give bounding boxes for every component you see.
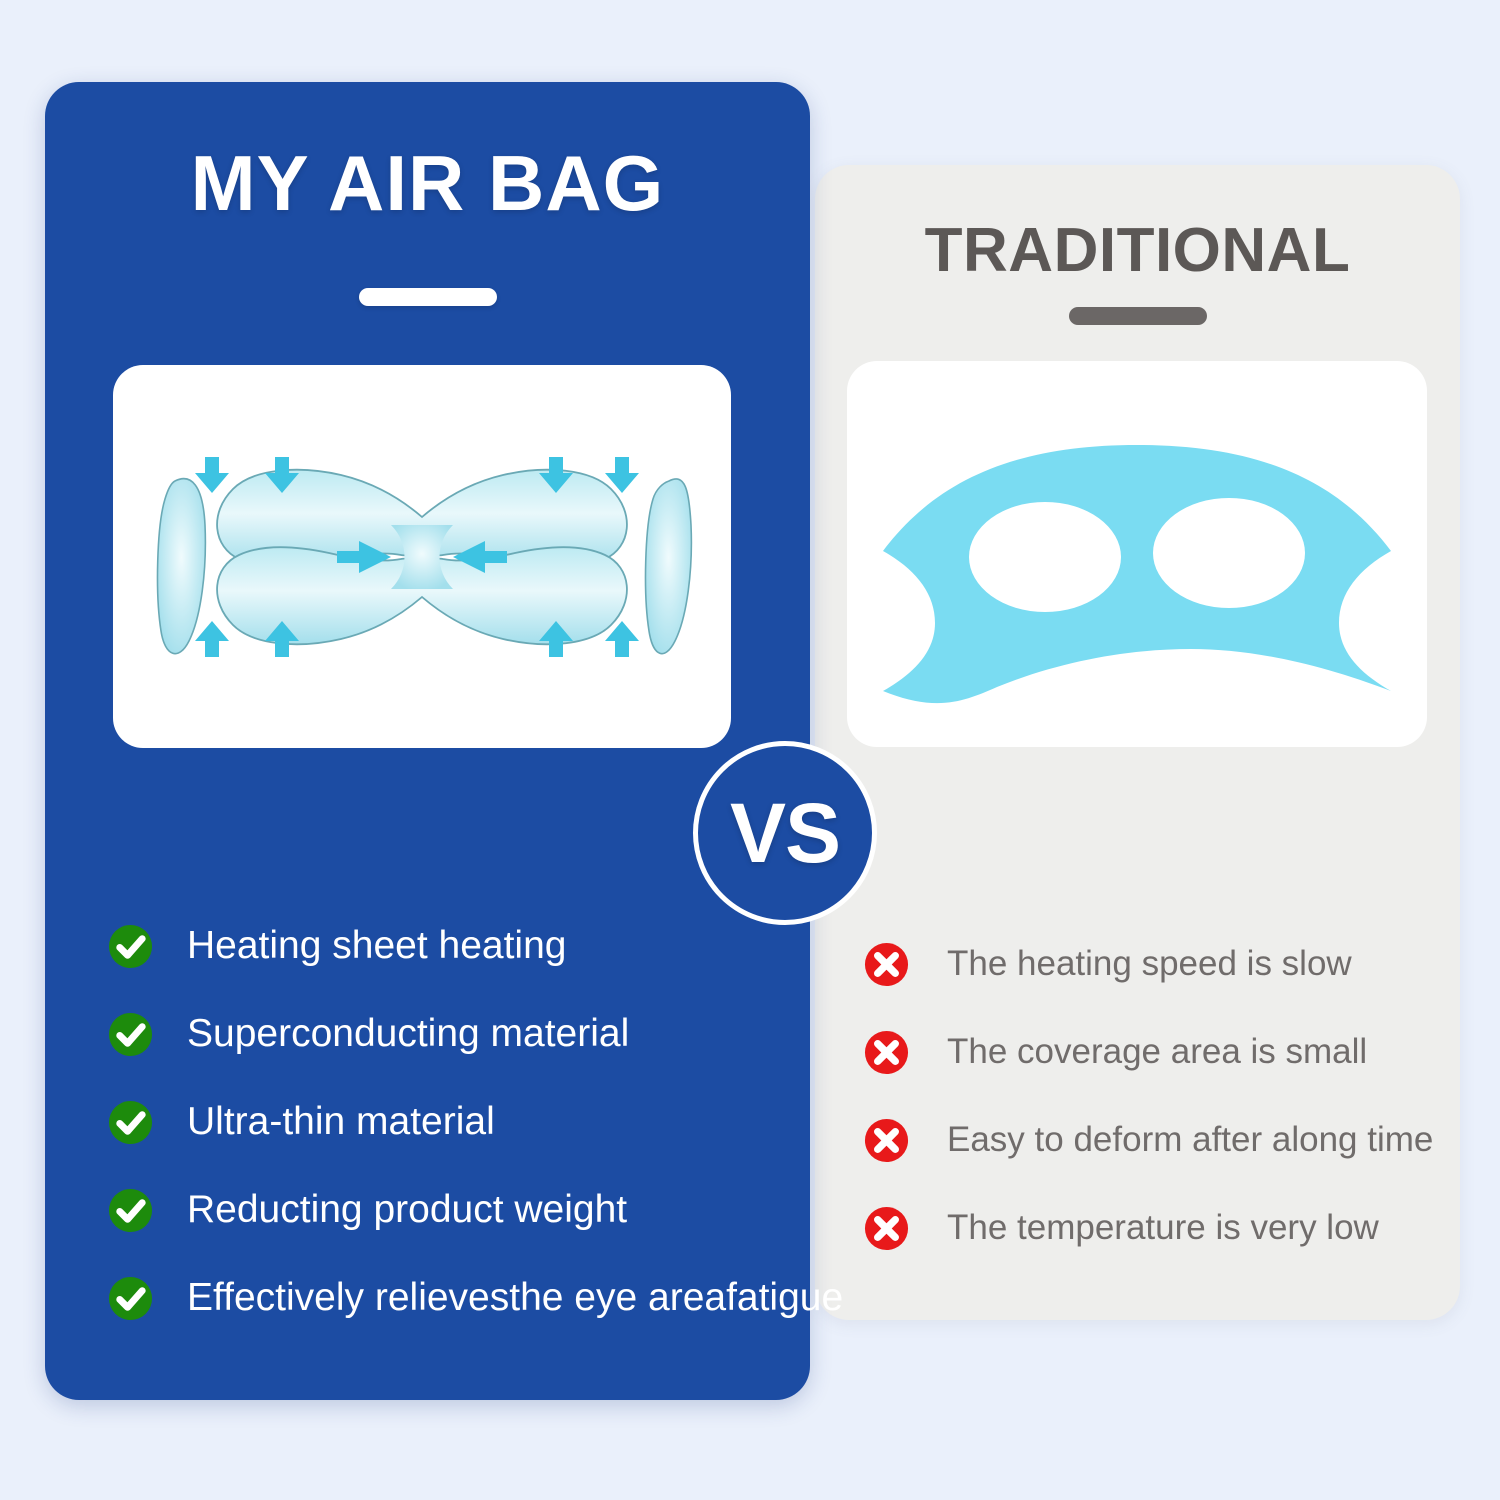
cross-circle-icon (863, 1117, 910, 1164)
traditional-title-divider (1069, 307, 1207, 325)
traditional-eye-mask-illustration (847, 361, 1427, 747)
vs-badge: VS (693, 741, 877, 925)
comparison-infographic: TRADITIONAL The heating speed is slow (0, 0, 1500, 1500)
list-item-label: The heating speed is slow (947, 945, 1352, 984)
my-air-bag-image-card (113, 365, 731, 748)
list-item-label: Ultra-thin material (187, 1101, 495, 1144)
list-item-label: Easy to deform after along time (947, 1121, 1433, 1160)
list-item-label: Heating sheet heating (187, 925, 566, 968)
traditional-title: TRADITIONAL (815, 220, 1460, 282)
list-item: Reducting product weight (107, 1166, 807, 1254)
list-item: Effectively relievesthe eye areafatigue (107, 1254, 807, 1342)
traditional-feature-list: The heating speed is slow The coverage a… (863, 920, 1463, 1272)
air-bag-hourglass-illustration (113, 365, 731, 748)
my-air-bag-title-divider (359, 288, 497, 306)
check-circle-icon (107, 923, 154, 970)
vs-badge-label: VS (730, 791, 840, 875)
cross-circle-icon (863, 1029, 910, 1076)
list-item-label: The coverage area is small (947, 1033, 1367, 1072)
list-item-label: Effectively relievesthe eye areafatigue (187, 1277, 843, 1320)
check-circle-icon (107, 1187, 154, 1234)
my-air-bag-panel: MY AIR BAG (45, 82, 810, 1400)
list-item: The heating speed is slow (863, 920, 1463, 1008)
my-air-bag-feature-list: Heating sheet heating Superconducting ma… (107, 902, 807, 1342)
cross-circle-icon (863, 941, 910, 988)
traditional-panel: TRADITIONAL The heating speed is slow (815, 165, 1460, 1320)
list-item: Ultra-thin material (107, 1078, 807, 1166)
list-item: Heating sheet heating (107, 902, 807, 990)
list-item: The temperature is very low (863, 1184, 1463, 1272)
list-item-label: Superconducting material (187, 1013, 629, 1056)
list-item: The coverage area is small (863, 1008, 1463, 1096)
list-item-label: The temperature is very low (947, 1209, 1379, 1248)
check-circle-icon (107, 1099, 154, 1146)
list-item: Superconducting material (107, 990, 807, 1078)
my-air-bag-title: MY AIR BAG (45, 144, 810, 222)
cross-circle-icon (863, 1205, 910, 1252)
list-item: Easy to deform after along time (863, 1096, 1463, 1184)
traditional-image-card (847, 361, 1427, 747)
check-circle-icon (107, 1011, 154, 1058)
list-item-label: Reducting product weight (187, 1189, 627, 1232)
check-circle-icon (107, 1275, 154, 1322)
